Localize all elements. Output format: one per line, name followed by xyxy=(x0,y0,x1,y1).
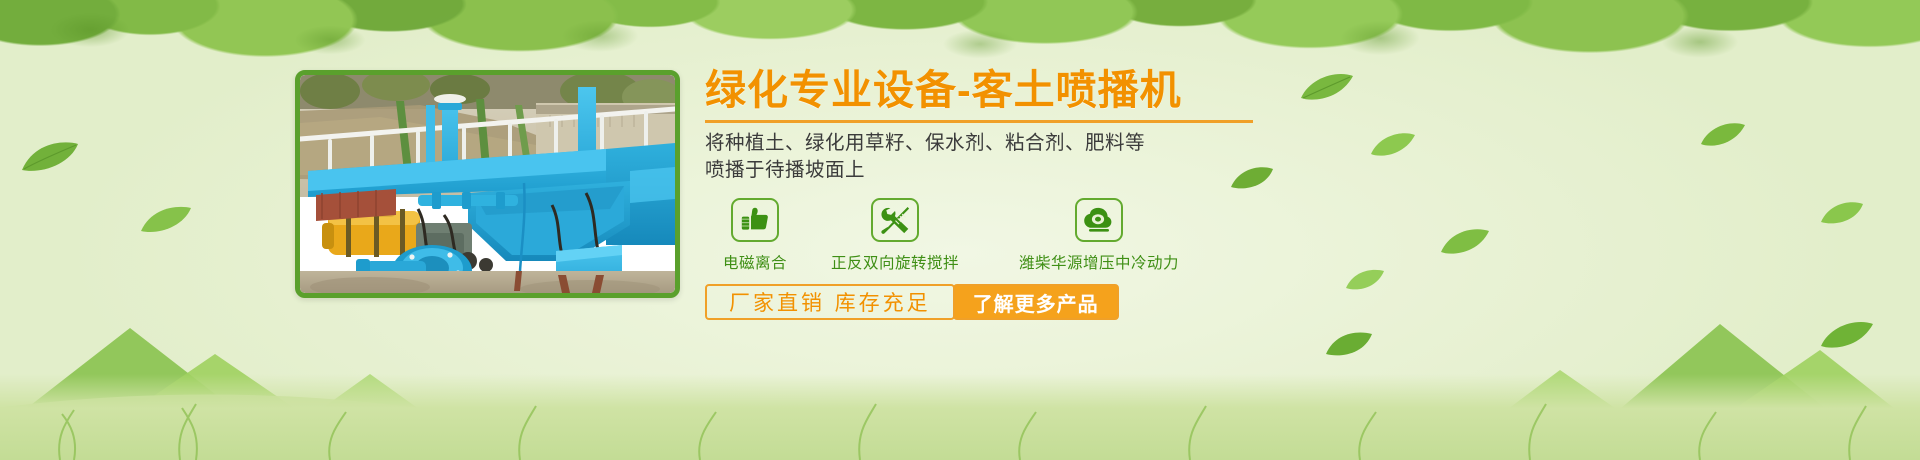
leaf-icon xyxy=(1300,70,1354,102)
feature-list: 电磁离合 正反双向旋转搅拌 xyxy=(705,198,1305,273)
banner-content: 绿化专业设备-客土喷播机 将种植土、绿化用草籽、保水剂、粘合剂、肥料等 喷播于待… xyxy=(705,66,1305,320)
engine-power-icon xyxy=(1083,207,1115,233)
thumbs-up-icon xyxy=(740,206,770,234)
leaf-icon xyxy=(20,140,80,174)
leaf-icon xyxy=(1325,330,1373,358)
promo-banner: 绿化专业设备-客土喷播机 将种植土、绿化用草籽、保水剂、粘合剂、肥料等 喷播于待… xyxy=(0,0,1920,460)
product-photo-frame xyxy=(295,70,680,298)
promo-badge: 厂家直销 库存充足 xyxy=(705,284,955,320)
product-photo-illustration xyxy=(300,75,675,293)
headline-underline xyxy=(705,120,1253,123)
feature-label: 潍柴华源增压中冷动力 xyxy=(1019,251,1179,273)
leaf-icon xyxy=(1820,200,1864,226)
feature-item-engine: 潍柴华源增压中冷动力 xyxy=(985,198,1213,273)
feature-item-mixing: 正反双向旋转搅拌 xyxy=(805,198,985,273)
feature-label: 电磁离合 xyxy=(723,251,787,273)
top-foliage-shadow-decoration xyxy=(0,0,1920,70)
subtitle-line-2: 喷播于待播坡面上 xyxy=(705,157,1305,184)
cta-row: 厂家直销 库存充足 了解更多产品 xyxy=(705,284,1305,320)
leaf-icon xyxy=(1440,226,1490,256)
feature-icon-box xyxy=(731,198,779,242)
subtitle-line-1: 将种植土、绿化用草籽、保水剂、粘合剂、肥料等 xyxy=(705,130,1305,157)
leaf-icon xyxy=(1820,318,1874,350)
headline: 绿化专业设备-客土喷播机 xyxy=(705,66,1305,114)
leaf-icon xyxy=(1700,120,1746,148)
feature-icon-box xyxy=(871,198,919,242)
feature-item-clutch: 电磁离合 xyxy=(705,198,805,273)
grass-blades-decoration xyxy=(0,360,1920,460)
product-photo xyxy=(300,75,675,293)
wrench-screwdriver-icon xyxy=(880,206,910,235)
leaf-icon xyxy=(140,205,192,235)
leaf-icon xyxy=(1370,130,1416,158)
feature-label: 正反双向旋转搅拌 xyxy=(831,251,959,273)
learn-more-button[interactable]: 了解更多产品 xyxy=(953,284,1119,320)
feature-icon-box xyxy=(1075,198,1123,242)
leaf-icon xyxy=(1345,268,1385,292)
